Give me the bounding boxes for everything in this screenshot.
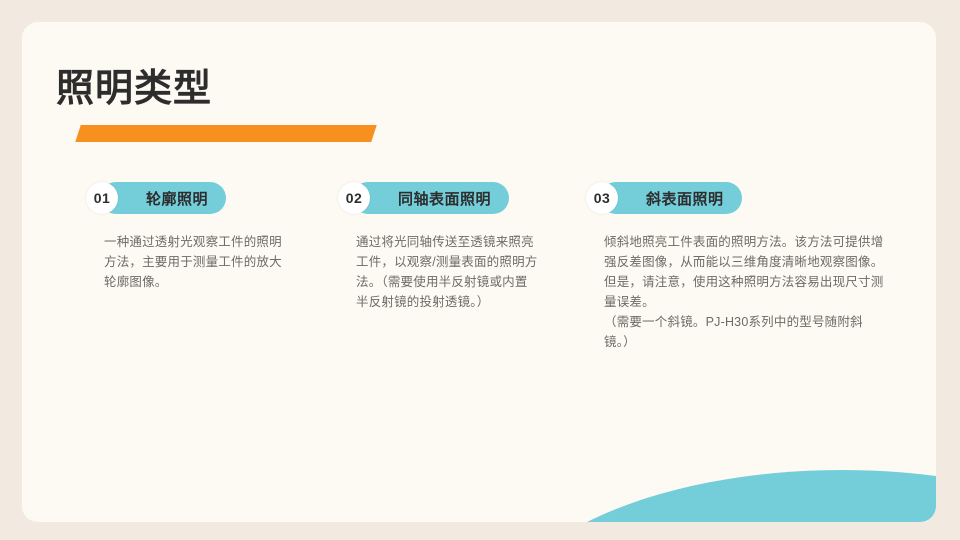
card-2-title-pill: 同轴表面照明 [352, 182, 509, 214]
card-3-badge: 斜表面照明 03 [586, 182, 886, 214]
card-1-number-label: 01 [94, 190, 111, 206]
card-2-number-circle: 02 [338, 182, 370, 214]
lighting-card-2: 同轴表面照明 02 通过将光同轴传送至透镜来照亮工件，以观察/测量表面的照明方法… [338, 182, 538, 312]
card-2-badge: 同轴表面照明 02 [338, 182, 538, 214]
card-2-number-label: 02 [346, 190, 363, 206]
lighting-card-3: 斜表面照明 03 倾斜地照亮工件表面的照明方法。该方法可提供增强反差图像，从而能… [586, 182, 886, 352]
card-1-badge: 轮廓照明 01 [86, 182, 286, 214]
slide-root: 照明类型 轮廓照明 01 一种通过透射光观察工件的照明方法，主要用于测量工件的放… [0, 0, 960, 540]
slide-panel: 照明类型 轮廓照明 01 一种通过透射光观察工件的照明方法，主要用于测量工件的放… [22, 22, 936, 522]
card-1-title-pill: 轮廓照明 [100, 182, 226, 214]
card-3-body-text: 倾斜地照亮工件表面的照明方法。该方法可提供增强反差图像，从而能以三维角度清晰地观… [604, 232, 886, 352]
decorative-circle-teal [492, 470, 936, 522]
card-3-number-label: 03 [594, 190, 611, 206]
card-3-title-label: 斜表面照明 [646, 188, 724, 209]
lighting-card-1: 轮廓照明 01 一种通过透射光观察工件的照明方法，主要用于测量工件的放大轮廓图像… [86, 182, 286, 292]
page-title: 照明类型 [56, 66, 212, 146]
card-1-body-text: 一种通过透射光观察工件的照明方法，主要用于测量工件的放大轮廓图像。 [104, 232, 286, 292]
title-underline-bar [75, 125, 377, 142]
card-3-number-circle: 03 [586, 182, 618, 214]
card-2-body-text: 通过将光同轴传送至透镜来照亮工件，以观察/测量表面的照明方法。（需要使用半反射镜… [356, 232, 538, 312]
card-2-title-label: 同轴表面照明 [398, 188, 491, 209]
card-1-number-circle: 01 [86, 182, 118, 214]
page-title-text: 照明类型 [56, 66, 212, 112]
card-1-title-label: 轮廓照明 [146, 188, 208, 209]
card-3-title-pill: 斜表面照明 [600, 182, 742, 214]
